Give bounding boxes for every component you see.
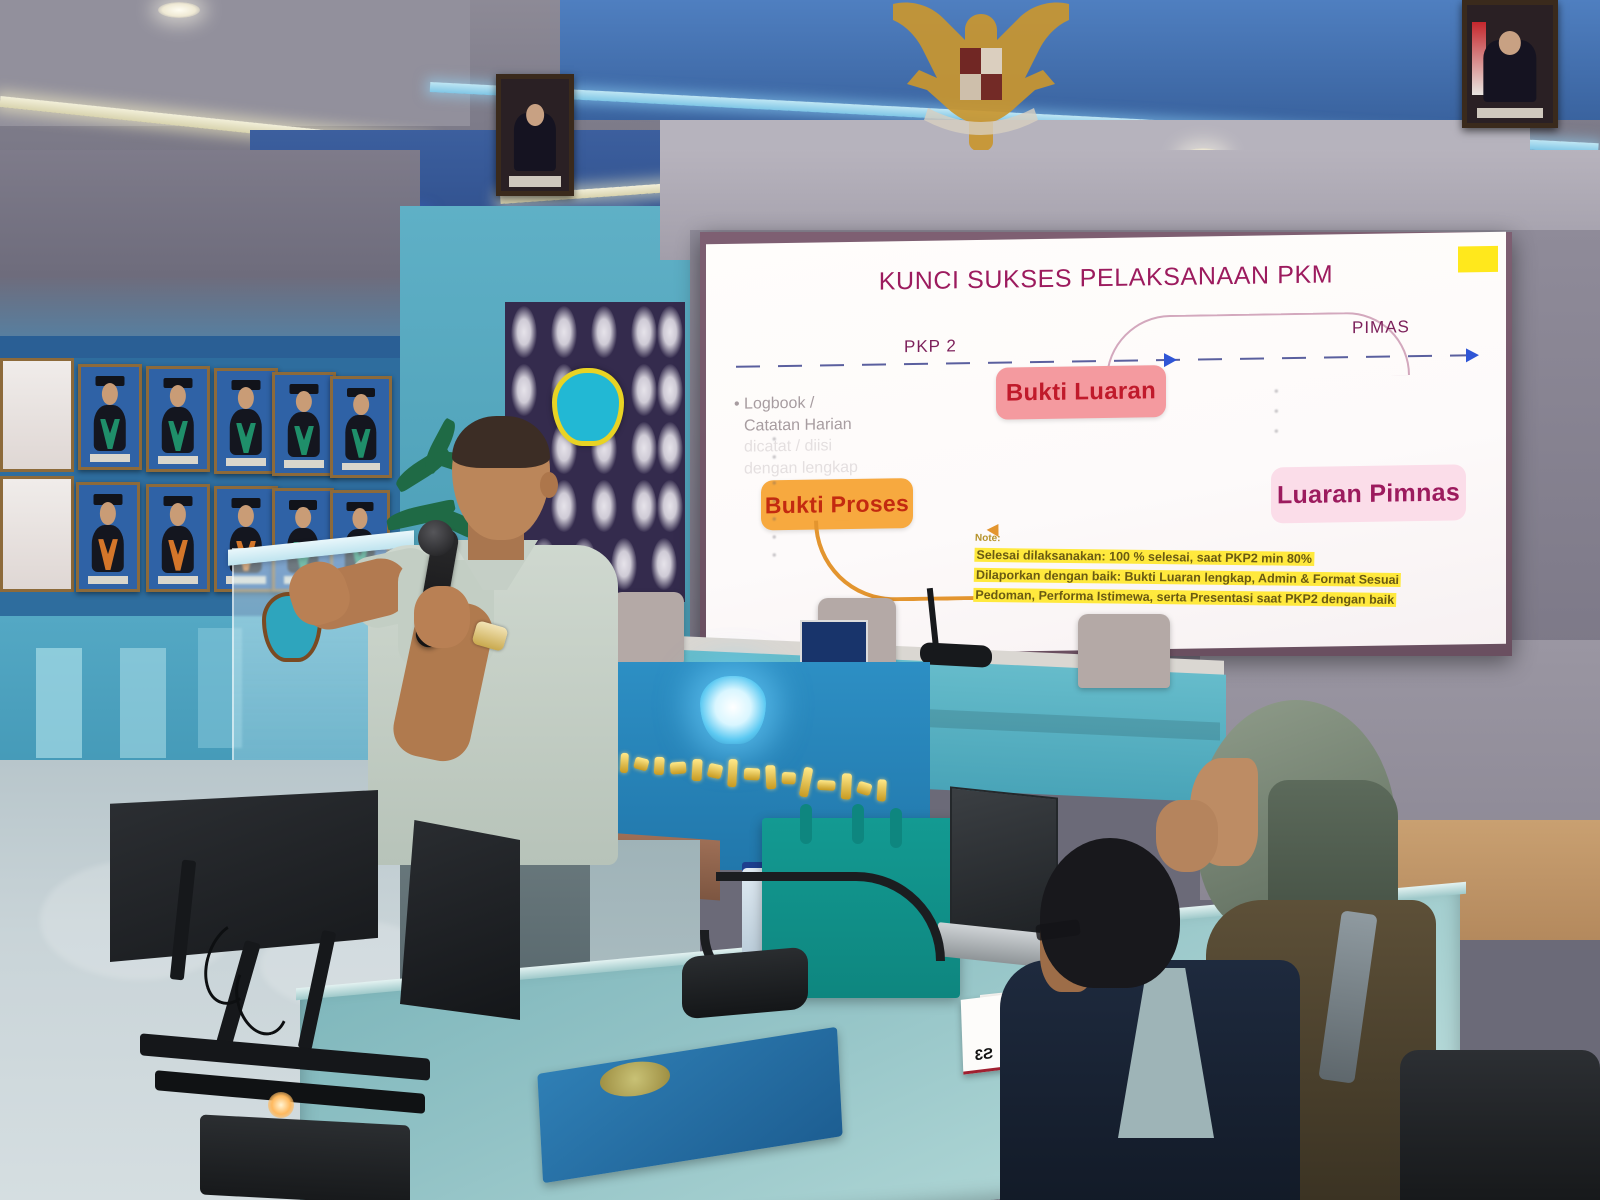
- official-portrait-frame: [496, 74, 574, 196]
- wall-poster: [0, 476, 74, 592]
- notes-line: Selesai dilaksanakan: 100 % selesai, saa…: [974, 548, 1314, 566]
- tote-handle: [890, 808, 902, 848]
- name-card-text: S3: [974, 1045, 993, 1064]
- illuminated-logo-icon: [700, 676, 766, 744]
- equipment-box: [200, 1114, 410, 1200]
- slide-canvas: KUNCI SUKSES PELAKSANAAN PKM PKP 2 PIMAS…: [706, 232, 1506, 657]
- presenter-right-hand: [414, 586, 470, 648]
- notes-line: Pedoman, Performa Istimewa, serta Presen…: [973, 588, 1396, 607]
- table-microphone-base: [682, 946, 808, 1019]
- seated-man-hair: [1040, 838, 1180, 988]
- graduate-portrait: [146, 366, 210, 472]
- timeline-end-label: PIMAS: [1352, 317, 1410, 338]
- stage-chair: [612, 592, 684, 664]
- graduate-portrait: [214, 368, 278, 474]
- tote-handle: [852, 804, 864, 844]
- indicator-light-icon: [268, 1092, 294, 1118]
- wall-panel-light: [120, 648, 166, 758]
- graduate-portrait: [78, 364, 142, 470]
- desk-microphone-base: [920, 642, 992, 668]
- wall-panel-light: [36, 648, 82, 758]
- timeline-start-label: PKP 2: [904, 336, 957, 357]
- timeline-arrow-end-icon: [1466, 348, 1479, 362]
- desk-photo-frame: [800, 620, 868, 668]
- stage-chair: [1078, 614, 1170, 688]
- slide-curved-arrow: [814, 518, 998, 603]
- badge-luaran-pimnas: Luaran Pimnas: [1271, 464, 1466, 523]
- presenter-ear: [540, 472, 558, 498]
- graduate-portrait: [76, 482, 140, 592]
- graduate-portrait: [272, 372, 336, 476]
- office-chair: [1400, 1050, 1600, 1200]
- wall-accent-band: [0, 336, 420, 358]
- bullet-text: Logbook /: [744, 395, 814, 413]
- slide-notes-block: Note: Selesai dilaksanakan: 100 % selesa…: [973, 533, 1495, 611]
- projection-screen: KUNCI SUKSES PELAKSANAAN PKM PKP 2 PIMAS…: [700, 232, 1512, 656]
- badge-bukti-luaran: Bukti Luaran: [996, 365, 1166, 420]
- conference-room-photo: KUNCI SUKSES PELAKSANAAN PKM PKP 2 PIMAS…: [0, 0, 1600, 1200]
- wall-poster: [0, 358, 74, 472]
- slide-title: KUNCI SUKSES PELAKSANAAN PKM: [706, 258, 1506, 300]
- timeline-arrow-mid-icon: [1164, 353, 1177, 367]
- garuda-pancasila-icon: [866, 0, 1096, 150]
- university-crest-icon: [552, 368, 624, 446]
- graduate-portrait: [146, 484, 210, 592]
- secondary-display: [400, 820, 520, 1020]
- notes-line: Dilaporkan dengan baik: Bukti Luaran len…: [974, 568, 1401, 587]
- official-portrait-frame: [1462, 0, 1558, 128]
- downlight-icon: [158, 2, 200, 18]
- seated-woman-hand: [1156, 800, 1218, 872]
- tote-handle: [800, 804, 812, 844]
